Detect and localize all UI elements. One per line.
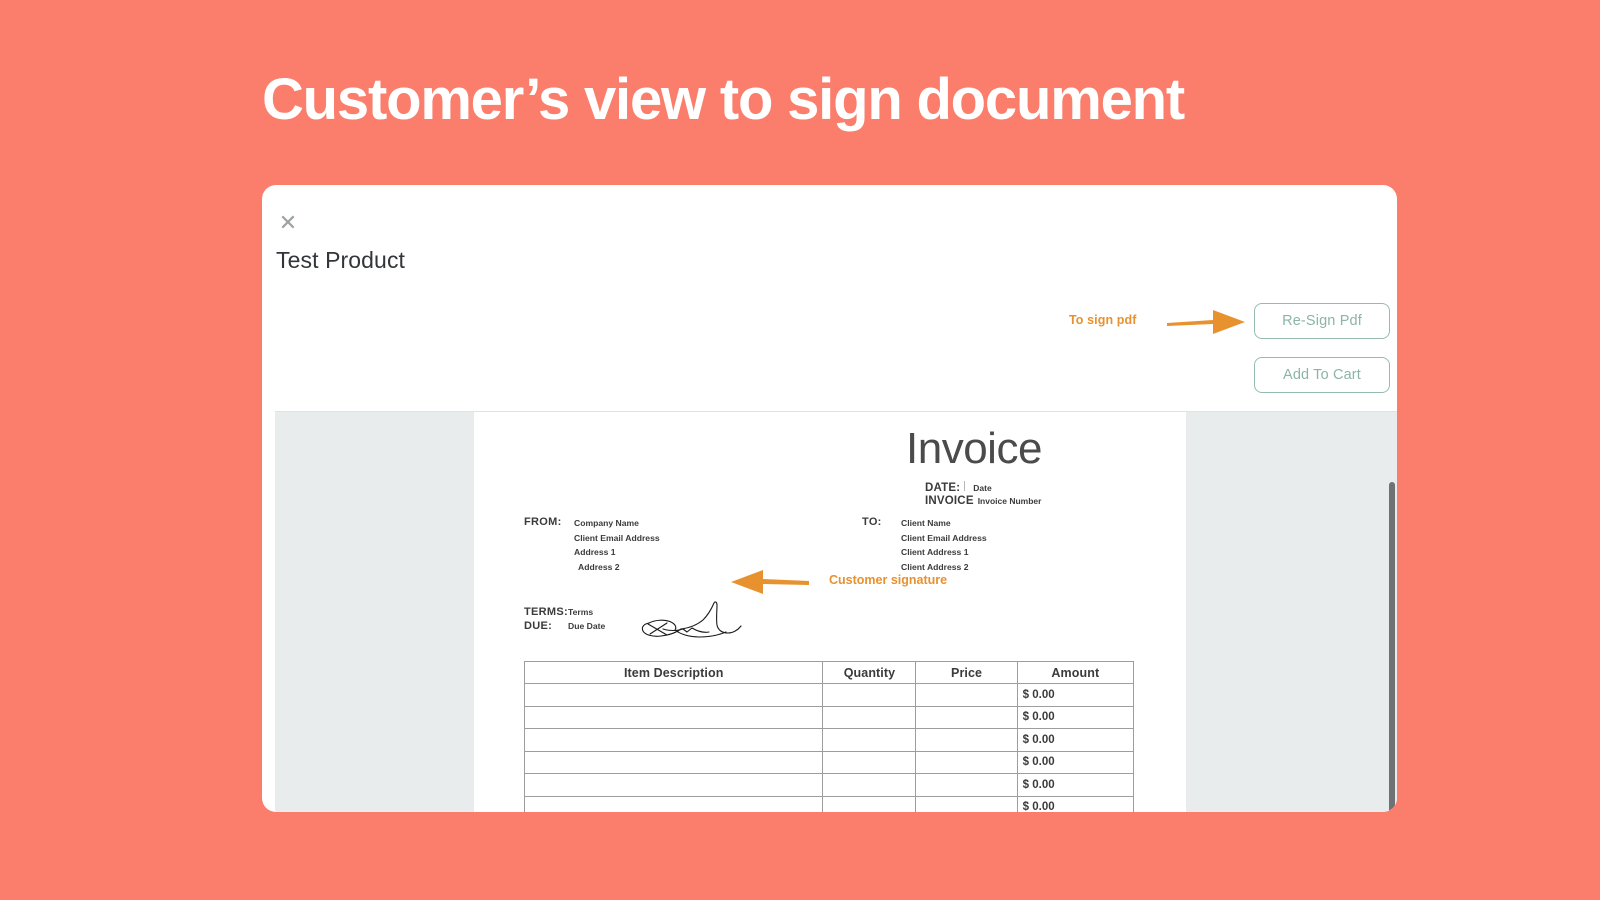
invoice-to-line: Client Address 2: [901, 560, 987, 575]
table-header-row: Item Description Quantity Price Amount: [525, 662, 1134, 684]
invoice-due-label: DUE:: [524, 620, 568, 632]
invoice-terms-value: Terms: [568, 607, 593, 617]
cell-description: [525, 751, 823, 774]
add-to-cart-button[interactable]: Add To Cart: [1254, 357, 1390, 393]
cell-description: [525, 729, 823, 752]
invoice-from-line: Client Email Address: [574, 531, 660, 546]
invoice-to-line: Client Email Address: [901, 531, 987, 546]
invoice-terms-row: TERMS: Terms: [524, 606, 605, 620]
annotation-arrow-right-icon: [1167, 307, 1247, 337]
cell-amount: $ 0.00: [1017, 774, 1133, 797]
cell-price: [916, 706, 1017, 729]
pdf-page: Invoice DATE: Date INVOICE Invoice Numbe…: [474, 412, 1186, 812]
cell-price: [916, 729, 1017, 752]
annotation-to-sign-pdf: To sign pdf: [1069, 313, 1137, 327]
column-header-amount: Amount: [1017, 662, 1133, 684]
invoice-meta-row: INVOICE Invoice Number: [925, 495, 1175, 507]
invoice-date-label: DATE:: [925, 482, 960, 494]
cell-quantity: [823, 684, 916, 707]
cell-amount: $ 0.00: [1017, 729, 1133, 752]
invoice-meta: DATE: Date INVOICE Invoice Number: [925, 481, 1175, 508]
invoice-title: Invoice: [906, 424, 1042, 474]
table-row: $ 0.00: [525, 796, 1134, 812]
cell-quantity: [823, 774, 916, 797]
column-header-quantity: Quantity: [823, 662, 916, 684]
product-modal: ✕ Test Product To sign pdf Re-Sign Pdf A…: [262, 185, 1397, 812]
cell-amount: $ 0.00: [1017, 706, 1133, 729]
pdf-viewer[interactable]: Invoice DATE: Date INVOICE Invoice Numbe…: [275, 411, 1397, 812]
cell-description: [525, 684, 823, 707]
invoice-from-line: Address 2: [574, 560, 660, 575]
cell-description: [525, 706, 823, 729]
cell-description: [525, 796, 823, 812]
cell-amount: $ 0.00: [1017, 796, 1133, 812]
cell-amount: $ 0.00: [1017, 751, 1133, 774]
cell-price: [916, 774, 1017, 797]
invoice-date-value: Date: [973, 483, 991, 493]
table-row: $ 0.00: [525, 751, 1134, 774]
table-row: $ 0.00: [525, 774, 1134, 797]
cell-price: [916, 796, 1017, 812]
divider: [964, 481, 965, 491]
invoice-from-label: FROM:: [524, 516, 562, 528]
product-title: Test Product: [276, 247, 405, 274]
cell-quantity: [823, 751, 916, 774]
customer-signature-drawing: [637, 597, 742, 645]
invoice-items-table: Item Description Quantity Price Amount $…: [524, 661, 1134, 812]
invoice-terms-row: DUE: Due Date: [524, 620, 605, 634]
cell-price: [916, 751, 1017, 774]
invoice-from-line: Address 1: [574, 545, 660, 560]
cell-quantity: [823, 729, 916, 752]
invoice-terms-block: TERMS: Terms DUE: Due Date: [524, 606, 605, 634]
invoice-to-lines: Client Name Client Email Address Client …: [901, 516, 987, 574]
cell-price: [916, 684, 1017, 707]
invoice-due-value: Due Date: [568, 621, 605, 631]
cell-quantity: [823, 706, 916, 729]
invoice-terms-label: TERMS:: [524, 606, 568, 618]
invoice-to-line: Client Address 1: [901, 545, 987, 560]
annotation-customer-signature: Customer signature: [829, 573, 947, 587]
annotation-arrow-left-icon: [729, 569, 809, 595]
cell-amount: $ 0.00: [1017, 684, 1133, 707]
table-row: $ 0.00: [525, 684, 1134, 707]
pdf-scrollbar-thumb[interactable]: [1389, 482, 1395, 812]
invoice-to-line: Client Name: [901, 516, 987, 531]
re-sign-pdf-button[interactable]: Re-Sign Pdf: [1254, 303, 1390, 339]
invoice-from-lines: Company Name Client Email Address Addres…: [574, 516, 660, 574]
pdf-scrollbar[interactable]: [1387, 412, 1397, 812]
invoice-to-label: TO:: [862, 516, 882, 528]
invoice-number-label: INVOICE: [925, 495, 974, 507]
invoice-meta-row: DATE: Date: [925, 481, 1175, 494]
cell-description: [525, 774, 823, 797]
close-icon[interactable]: ✕: [275, 210, 301, 236]
cell-quantity: [823, 796, 916, 812]
page-title: Customer’s view to sign document: [262, 62, 1362, 138]
column-header-price: Price: [916, 662, 1017, 684]
table-row: $ 0.00: [525, 729, 1134, 752]
invoice-number-value: Invoice Number: [978, 496, 1042, 506]
column-header-item-description: Item Description: [525, 662, 823, 684]
table-row: $ 0.00: [525, 706, 1134, 729]
invoice-from-line: Company Name: [574, 516, 660, 531]
